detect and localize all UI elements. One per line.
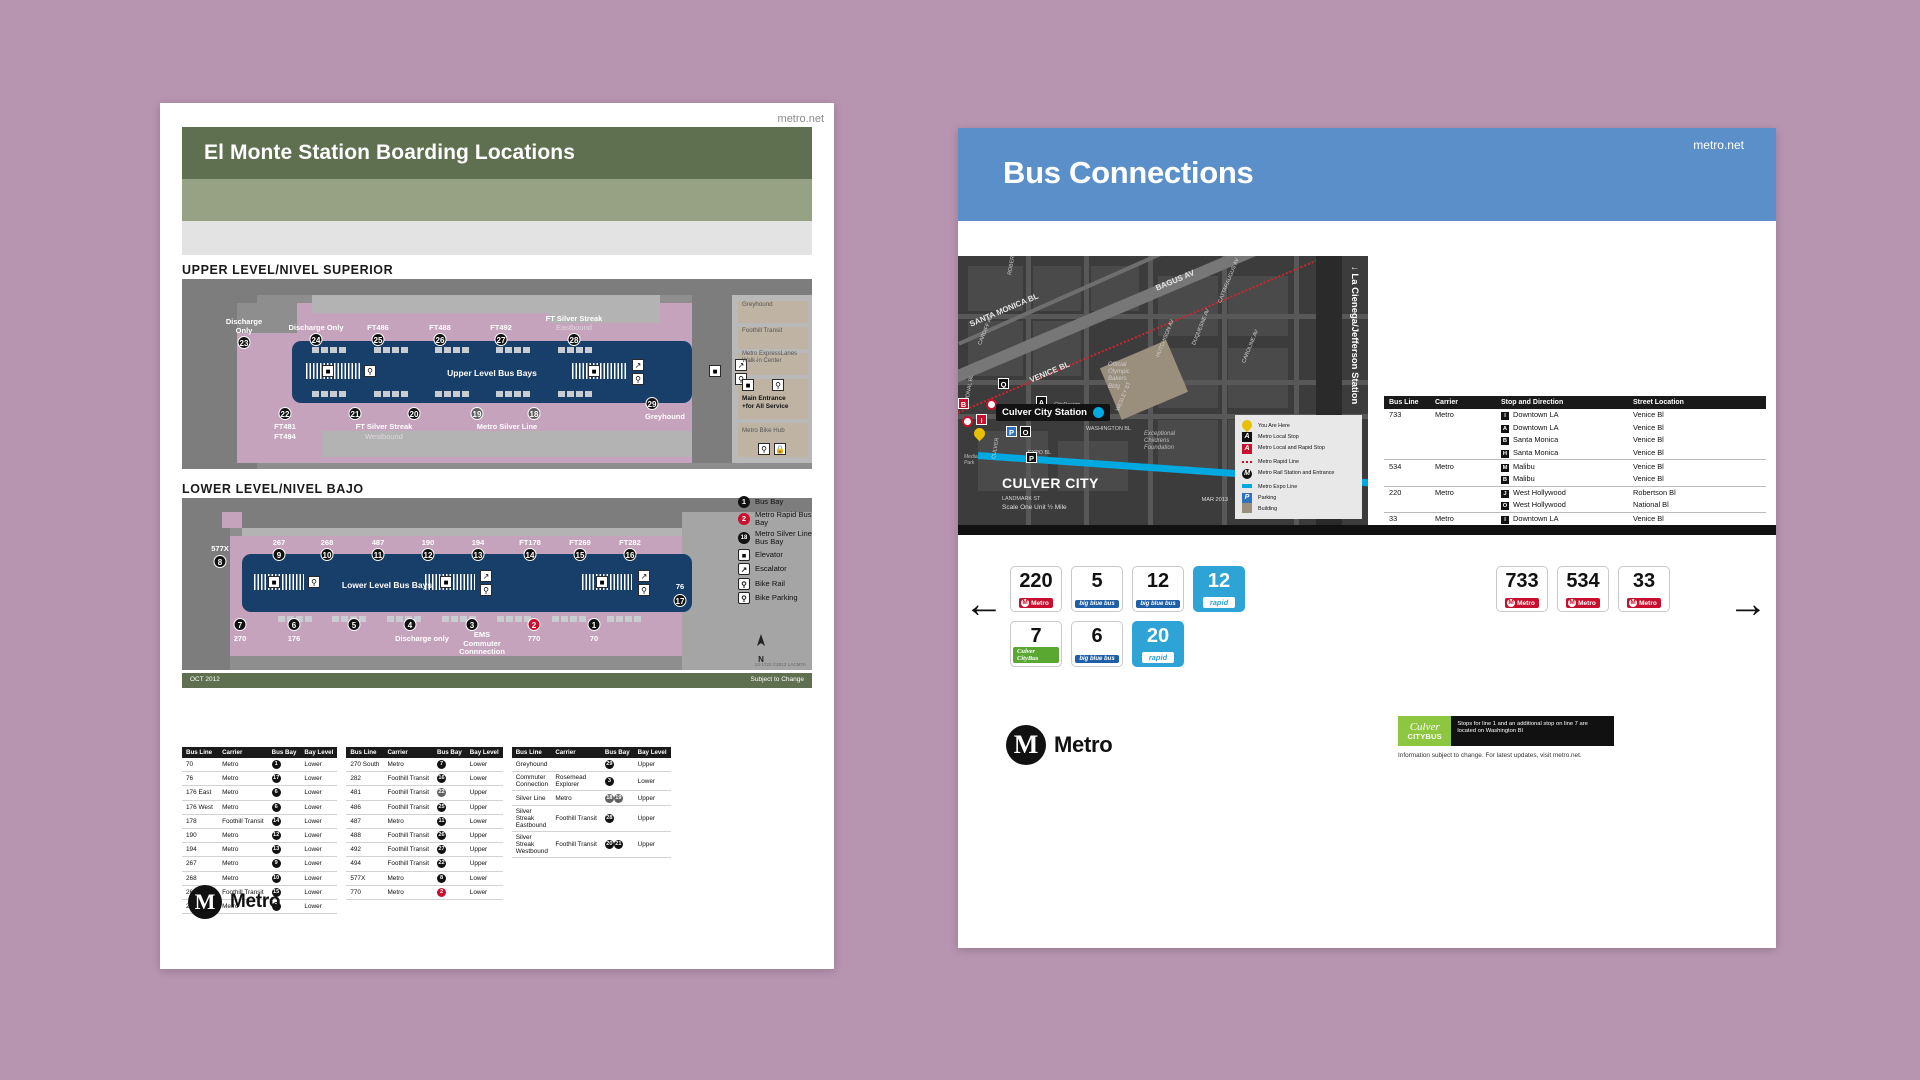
bay-dot-8[interactable]: 8: [214, 555, 227, 568]
route-badge-number: 220: [1019, 571, 1052, 591]
route-badge-33[interactable]: 33MMetro: [1618, 566, 1670, 612]
bay-badge: 22: [437, 859, 446, 868]
route-badge-12[interactable]: 12rapid: [1193, 566, 1245, 612]
bay-badge: 10: [272, 874, 281, 883]
cell-level: Lower: [300, 828, 337, 842]
route-badge-number: 12: [1147, 571, 1169, 591]
legend-label-metro-rail-station: Metro Rail Station and Entrance: [1258, 471, 1334, 477]
cell-level: Lower: [466, 885, 503, 899]
cell-street-location: Venice Bl: [1628, 422, 1766, 435]
route-badge-agency-tag: MMetro: [1505, 598, 1539, 608]
cell-bay: 3: [601, 772, 634, 791]
stop-marker-icon: H: [1501, 450, 1509, 458]
route-badge-534[interactable]: 534MMetro: [1557, 566, 1609, 612]
legend-label-elevator: Elevator: [755, 551, 783, 559]
cell-carrier: Foothill Transit: [218, 814, 268, 828]
cell-bay: 27: [433, 843, 466, 857]
bay-badge: 20: [605, 840, 614, 849]
legend-row-bus-bay: 1 Bus Bay: [738, 495, 818, 510]
bay-dot-6[interactable]: 6: [288, 618, 301, 631]
legend-label-building: Building: [1258, 506, 1277, 512]
legend-row-escalator: ↗ Escalator: [738, 562, 818, 577]
cell-bus-line: [1384, 447, 1430, 460]
metro-local-rapid-icon: A: [1241, 444, 1253, 454]
elevator-icon-upper-left: ■: [322, 365, 334, 377]
stop-marker-icon: O: [1501, 502, 1509, 510]
cell-bay: 25: [433, 800, 466, 814]
cell-carrier: [551, 758, 601, 772]
route-badge-row: 7Culver CityBus6big blue bus20rapid: [1010, 621, 1245, 667]
metro-wordmark: Metro: [230, 891, 280, 913]
lower-level-map[interactable]: ■ ⚲ ■ ↗ ⚲ ■ ↗ ⚲ Lower Level Bus Bays 577…: [182, 498, 812, 670]
culver-city-map[interactable]: ↓ La Cienega/Jefferson Station SANTA MON…: [958, 256, 1368, 525]
bay-badge: 1: [272, 760, 281, 769]
cell-carrier: [1430, 499, 1496, 512]
cell-carrier: [1430, 473, 1496, 486]
cell-carrier: Foothill Transit: [383, 800, 433, 814]
stop-marker-icon: A: [1501, 425, 1509, 433]
bike-icon-lower-left: ⚲: [308, 576, 320, 588]
cell-line: 194: [182, 843, 218, 857]
bay-dot-13[interactable]: 13: [472, 548, 485, 561]
cell-stop-direction: OWest Hollywood: [1496, 499, 1628, 512]
route-badge-220[interactable]: 220MMetro: [1010, 566, 1062, 612]
bay-badge: 26: [437, 831, 446, 840]
culver-citybus-brand-b: CITYBUS: [1408, 733, 1442, 741]
cell-line: Commuter Connection: [512, 772, 552, 791]
bay-dot-14[interactable]: 14: [524, 548, 537, 561]
map-marker-rapid-circle-2[interactable]: [962, 416, 973, 427]
metronet-link-left[interactable]: metro.net: [778, 113, 824, 125]
cell-bus-line: [1384, 473, 1430, 486]
legend-label-bike-parking: Bike Parking: [755, 594, 798, 602]
bay-label-14: FT178: [519, 538, 541, 547]
building-icon: [1241, 503, 1253, 515]
side-label-greyhound: Greyhound: [742, 301, 773, 308]
bay-label-26: FT488: [429, 323, 451, 332]
bus-bay-table-3: Bus Line Carrier Bus Bay Bay Level Greyh…: [512, 747, 671, 914]
legend-row-elevator: ■ Elevator: [738, 548, 818, 563]
cell-line: 481: [346, 786, 383, 800]
cell-carrier: Foothill Transit: [383, 843, 433, 857]
cell-street-location: Venice Bl: [1628, 473, 1766, 486]
compass-rose: N: [754, 634, 768, 664]
route-badge-5[interactable]: 5big blue bus: [1071, 566, 1123, 612]
cell-street-location: Robertson Bl: [1628, 486, 1766, 499]
cell-line: Silver Streak Eastbound: [512, 805, 552, 831]
cell-bay: 13: [268, 843, 301, 857]
table-row: 733MetroIDowntown LAVenice Bl: [1384, 409, 1766, 422]
map-copyright: 13-1722 ©2012 LACMTA: [755, 662, 806, 667]
cell-bay: 28: [601, 805, 634, 831]
escalator-icon-lower-right: ↗: [638, 570, 650, 582]
route-badge-number: 12: [1208, 571, 1230, 591]
stop-marker-icon: I: [1501, 516, 1509, 524]
bay-label-13: 194: [472, 538, 485, 547]
cell-bay: 22: [433, 857, 466, 871]
cell-bay: 6: [268, 800, 301, 814]
bay-dot-15[interactable]: 15: [574, 548, 587, 561]
cell-level: Lower: [300, 871, 337, 885]
escalator-icon: ↗: [738, 563, 750, 575]
cell-carrier: Metro: [383, 871, 433, 885]
bike-rail-icon: ⚲: [738, 578, 750, 590]
th-carrier: Carrier: [383, 747, 433, 758]
elevator-icon-upper-far: ■: [709, 365, 721, 377]
legend-label-bike-rail: Bike Rail: [755, 580, 785, 588]
metro-m-icon: M: [188, 885, 222, 919]
route-badge-733[interactable]: 733MMetro: [1496, 566, 1548, 612]
th-street-location: Street Location: [1628, 396, 1766, 409]
lower-level-section-label: LOWER LEVEL/NIVEL BAJO: [182, 482, 364, 496]
bay-label-8: 577X: [211, 544, 229, 553]
cell-bay: 1819: [601, 791, 634, 805]
cell-carrier: Metro: [218, 786, 268, 800]
bay-dot-7[interactable]: 7: [234, 618, 247, 631]
cell-carrier: Foothill Transit: [551, 831, 601, 857]
cell-line: 486: [346, 800, 383, 814]
table-row: 577XMetro8Lower: [346, 871, 502, 885]
bay-badge: 3: [605, 777, 614, 786]
bay-label-22: FT481: [274, 422, 296, 431]
cell-carrier: Metro: [218, 828, 268, 842]
cell-bay: 6: [268, 786, 301, 800]
table-row: 494Foothill Transit22Upper: [346, 857, 502, 871]
expo-line-dot-icon: [1093, 407, 1104, 418]
bus-bay-table-2: Bus Line Carrier Bus Bay Bay Level 270 S…: [346, 747, 502, 914]
route-badge-row: 220MMetro5big blue bus12big blue bus12ra…: [1010, 566, 1245, 612]
bay-dot-9[interactable]: 9: [273, 548, 286, 561]
cell-level: Lower: [300, 885, 337, 899]
table-row: HSanta MonicaVenice Bl: [1384, 447, 1766, 460]
cell-line: 70: [182, 758, 218, 772]
bay-dot-16[interactable]: 16: [624, 548, 637, 561]
cell-carrier: Metro: [383, 885, 433, 899]
bay-label-10: 268: [321, 538, 334, 547]
cell-bay: 22: [433, 786, 466, 800]
th-bay-level: Bay Level: [634, 747, 671, 758]
th-carrier: Carrier: [218, 747, 268, 758]
culver-city-station-label: Culver City Station: [1002, 407, 1087, 418]
table-row: 270 SouthMetro7Lower: [346, 758, 502, 772]
route-badge-agency-tag: Culver CityBus: [1013, 647, 1059, 663]
th-bay-level: Bay Level: [300, 747, 337, 758]
cell-stop-direction: BSanta Monica: [1496, 434, 1628, 447]
bay-label-17: 76: [676, 582, 684, 591]
place-label-olympic-bakers: OfficialOlympicBakersBldg: [1108, 362, 1130, 391]
bay-sublabel-21: Westbound: [365, 432, 403, 441]
table-header-row: Bus Line Carrier Bus Bay Bay Level: [512, 747, 671, 758]
arrow-left-icon: ←: [964, 584, 1004, 624]
bay-badge: 22: [437, 788, 446, 797]
cell-carrier: Foothill Transit: [383, 857, 433, 871]
cell-bay: 10: [268, 871, 301, 885]
you-are-here-icon: [1241, 420, 1253, 432]
cell-level: Lower: [466, 871, 503, 885]
el-monte-header-band: [182, 179, 812, 221]
map-marker-B[interactable]: B: [958, 398, 969, 409]
map-marker-P[interactable]: P: [1026, 452, 1037, 463]
cell-level: Upper: [466, 786, 503, 800]
route-badge-agency-tag: MMetro: [1627, 598, 1661, 608]
cell-line: 270 South: [346, 758, 383, 772]
cell-level: Lower: [466, 814, 503, 828]
table-row: 194Metro13Lower: [182, 843, 337, 857]
cell-bay: 12: [268, 828, 301, 842]
bay-dot-12[interactable]: 12: [422, 548, 435, 561]
legend-row-bike-rail: ⚲ Bike Rail: [738, 577, 818, 592]
route-badges-left-group: 220MMetro5big blue bus12big blue bus12ra…: [1010, 566, 1245, 676]
table-row: Greyhound29Upper: [512, 758, 671, 772]
bay-dot-11[interactable]: 11: [372, 548, 385, 561]
la-cienega-jefferson-station-label: ↓ La Cienega/Jefferson Station: [1349, 266, 1360, 404]
culver-citybus-note: Stops for line 1 and an additional stop …: [1451, 716, 1614, 746]
bay-dot-21[interactable]: 21: [349, 407, 362, 420]
cell-bay: 16: [433, 772, 466, 786]
page-title: El Monte Station Boarding Locations: [204, 141, 575, 165]
bay-dot-2[interactable]: 2: [528, 618, 541, 631]
metro-local-stop-icon: A: [1241, 432, 1253, 442]
cell-carrier: Metro: [1430, 512, 1496, 525]
cell-line: 176 West: [182, 800, 218, 814]
bay-dot-18[interactable]: 18: [528, 407, 541, 420]
bay-badge: 2: [437, 888, 446, 897]
table-row: 481Foothill Transit22Upper: [346, 786, 502, 800]
bay-dot-4[interactable]: 4: [404, 618, 417, 631]
cell-carrier: Foothill Transit: [383, 828, 433, 842]
elevator-icon-lower-mid: ■: [440, 576, 452, 588]
bay-dot-28[interactable]: 28: [568, 333, 581, 346]
legend-label-escalator: Escalator: [755, 565, 787, 573]
table-row: 267Metro9Lower: [182, 857, 337, 871]
bay-badge: 16: [437, 774, 446, 783]
cell-carrier: Foothill Transit: [383, 786, 433, 800]
cell-level: Upper: [634, 791, 671, 805]
cell-level: Lower: [300, 786, 337, 800]
legend-row-parking: P Parking: [1241, 492, 1356, 503]
bay-dot-1[interactable]: 1: [588, 618, 601, 631]
metro-m-icon: M: [1006, 725, 1046, 765]
cell-carrier: Foothill Transit: [551, 805, 601, 831]
cell-carrier: Metro: [1430, 486, 1496, 499]
map-marker-I[interactable]: I: [976, 414, 987, 425]
metro-logo-right[interactable]: M Metro: [1006, 725, 1112, 765]
bay-badge: 6: [272, 803, 281, 812]
cell-bus-line: 220: [1384, 486, 1430, 499]
bus-connections-title: Bus Connections: [1003, 155, 1253, 191]
bay-label-4: Discharge only: [395, 634, 449, 643]
bay-badge: 29: [605, 760, 614, 769]
route-badge-agency-tag: MMetro: [1019, 598, 1053, 608]
map-scale-label: Scale One Unit ½ Mile: [1002, 504, 1067, 511]
bay-dot-29[interactable]: 29: [646, 397, 659, 410]
route-badge-6[interactable]: 6big blue bus: [1071, 621, 1123, 667]
th-bus-bay: Bus Bay: [433, 747, 466, 758]
table-row: BSanta MonicaVenice Bl: [1384, 434, 1766, 447]
legend-label-metro-local-rapid: Metro Local and Rapid Stop: [1258, 446, 1325, 452]
silver-line-bay-dot-icon: 18: [738, 532, 750, 544]
table-row: 33MetroIDowntown LAVenice Bl: [1384, 512, 1766, 525]
cell-carrier: Metro: [218, 800, 268, 814]
cell-line: 267: [182, 857, 218, 871]
upper-bus-bays-center-label: Upper Level Bus Bays: [447, 368, 537, 378]
bike-icon-side: ⚲: [758, 443, 770, 455]
stop-marker-icon: I: [1501, 412, 1509, 420]
cell-level: Lower: [300, 814, 337, 828]
route-badge-20[interactable]: 20rapid: [1132, 621, 1184, 667]
bay-label-19: Metro Silver Line: [477, 422, 537, 431]
cell-bay: 26: [433, 828, 466, 842]
cell-bay: 7: [433, 758, 466, 772]
cell-bay: 2021: [601, 831, 634, 857]
bay-badge: 11: [437, 817, 446, 826]
table-row: 220MetroJWest HollywoodRobertson Bl: [1384, 486, 1766, 499]
cell-carrier: Metro: [1430, 460, 1496, 473]
metro-m-icon: M: [1568, 599, 1576, 607]
bay-dot-17[interactable]: 17: [674, 594, 687, 607]
cell-bus-line: 33: [1384, 512, 1430, 525]
map-date-label: MAR 2013: [1202, 497, 1228, 503]
section-divider-bar: [958, 525, 1776, 535]
cell-level: Upper: [466, 843, 503, 857]
route-badge-number: 6: [1091, 626, 1102, 646]
cell-carrier: Metro: [1430, 409, 1496, 422]
cell-stop-direction: BMalibu: [1496, 473, 1628, 486]
cell-bus-line: [1384, 499, 1430, 512]
cell-line: 494: [346, 857, 383, 871]
bay-dot-24[interactable]: 24: [310, 333, 323, 346]
street-label-landmark-st: LANDMARK ST: [1002, 496, 1040, 502]
cell-line: 488: [346, 828, 383, 842]
cell-stop-direction: MMalibu: [1496, 460, 1628, 473]
bay-label-11: 487: [372, 538, 385, 547]
table-row: 76Metro17Lower: [182, 772, 337, 786]
bay-badge: 6: [272, 788, 281, 797]
table-row: Silver Streak EastboundFoothill Transit2…: [512, 805, 671, 831]
th-carrier: Carrier: [1430, 396, 1496, 409]
bay-dot-23[interactable]: 23: [238, 336, 251, 349]
route-badge-agency-tag: big blue bus: [1075, 600, 1118, 608]
table-row: 770Metro2Lower: [346, 885, 502, 899]
map-marker-O[interactable]: O: [1020, 426, 1031, 437]
bay-dot-19[interactable]: 19: [471, 407, 484, 420]
cell-street-location: Venice Bl: [1628, 460, 1766, 473]
route-badge-agency-tag: rapid: [1203, 597, 1235, 608]
cell-line: 492: [346, 843, 383, 857]
th-stop-direction: Stop and Direction: [1496, 396, 1628, 409]
cell-line: 176 East: [182, 786, 218, 800]
legend-label-silver-line-bay: Metro Silver Line Bus Bay: [755, 530, 818, 546]
bay-label-28: FT Silver Streak: [546, 314, 603, 323]
cell-bay: 2: [433, 885, 466, 899]
table-row: 492Foothill Transit27Upper: [346, 843, 502, 857]
cell-carrier: Metro: [218, 772, 268, 786]
metro-logo-left[interactable]: M Metro: [188, 885, 280, 919]
cell-carrier: Foothill Transit: [383, 772, 433, 786]
bay-label-16: FT282: [619, 538, 641, 547]
cell-level: Upper: [466, 800, 503, 814]
table-row: 176 WestMetro6Lower: [182, 800, 337, 814]
cell-line: 268: [182, 871, 218, 885]
table-row: 190Metro12Lower: [182, 828, 337, 842]
metro-rail-station-icon: M: [1241, 469, 1253, 479]
bay-dot-10[interactable]: 10: [321, 548, 334, 561]
bay-badge: 12: [272, 831, 281, 840]
metronet-link-right[interactable]: metro.net: [1693, 138, 1744, 152]
el-monte-boarding-locations-page: El Monte Station Boarding Locations metr…: [160, 103, 834, 969]
bay-dot-27[interactable]: 27: [495, 333, 508, 346]
legend-row-metro-expo-line: Metro Expo Line: [1241, 481, 1356, 492]
bay-label-29: Greyhound: [645, 412, 685, 421]
bay-dot-20[interactable]: 20: [408, 407, 421, 420]
cell-carrier: Metro: [218, 843, 268, 857]
bay-badge: 18: [605, 794, 614, 803]
metro-wordmark: Metro: [1054, 732, 1112, 758]
legend-row-metro-local-stop: A Metro Local Stop: [1241, 431, 1356, 442]
upper-level-map[interactable]: ■ ⚲ ■ ↗ ⚲ ■ ↗ ⚲ Upper Level Bus Bays Dis…: [182, 279, 812, 469]
cell-level: Lower: [300, 772, 337, 786]
stop-marker-icon: B: [1501, 437, 1509, 445]
cell-stop-direction: IDowntown LA: [1496, 409, 1628, 422]
cell-line: 178: [182, 814, 218, 828]
bay-label-23: DischargeOnly: [226, 317, 262, 335]
cell-level: Lower: [634, 772, 671, 791]
bay-dot-22[interactable]: 22: [279, 407, 292, 420]
cell-carrier: Metro: [218, 871, 268, 885]
cell-bus-line: 733: [1384, 409, 1430, 422]
cell-carrier: Metro: [218, 857, 268, 871]
bike-rail-icon-upper-left: ⚲: [364, 365, 376, 377]
lock-icon-side: 🔒: [774, 443, 786, 455]
street-label-washington-bl: WASHINGTON BL: [1086, 426, 1131, 432]
cell-bay: 8: [433, 871, 466, 885]
map-marker-Q[interactable]: Q: [998, 378, 1009, 389]
th-bus-bay: Bus Bay: [601, 747, 634, 758]
cell-level: Upper: [634, 758, 671, 772]
bay-badge: 19: [614, 794, 623, 803]
table-row: 488Foothill Transit26Upper: [346, 828, 502, 842]
cell-level: Lower: [300, 857, 337, 871]
cell-level: Lower: [300, 800, 337, 814]
parking-icon: P: [1241, 493, 1253, 503]
map-marker-P-blue[interactable]: P: [1006, 426, 1017, 437]
publication-date: OCT 2012: [190, 676, 220, 683]
bay-label-2: 770: [528, 634, 541, 643]
route-badge-12[interactable]: 12big blue bus: [1132, 566, 1184, 612]
cell-carrier: Rosemead Explorer: [551, 772, 601, 791]
legend-row-metro-local-rapid: A Metro Local and Rapid Stop: [1241, 442, 1356, 456]
bay-label-7: 270: [234, 634, 247, 643]
cell-level: Lower: [300, 843, 337, 857]
legend-label-parking: Parking: [1258, 495, 1276, 501]
upper-level-section-label: UPPER LEVEL/NIVEL SUPERIOR: [182, 263, 393, 277]
metro-m-icon: M: [1629, 599, 1637, 607]
route-badge-7[interactable]: 7Culver CityBus: [1010, 621, 1062, 667]
place-label-media-park: MediaPark: [964, 454, 978, 466]
cell-level: Upper: [634, 805, 671, 831]
bay-label-12: 190: [422, 538, 435, 547]
bay-badge: 27: [437, 845, 446, 854]
bay-sublabel-28: Eastbound: [556, 323, 592, 332]
route-badge-number: 5: [1091, 571, 1102, 591]
culver-city-station-pill[interactable]: Culver City Station: [996, 404, 1110, 421]
bay-label-27: FT492: [490, 323, 512, 332]
bay-dot-5[interactable]: 5: [348, 618, 361, 631]
bay-dot-25[interactable]: 25: [372, 333, 385, 346]
bay-dot-26[interactable]: 26: [434, 333, 447, 346]
cell-line: 770: [346, 885, 383, 899]
legend-row-bike-parking: ⚲ Bike Parking: [738, 591, 818, 606]
